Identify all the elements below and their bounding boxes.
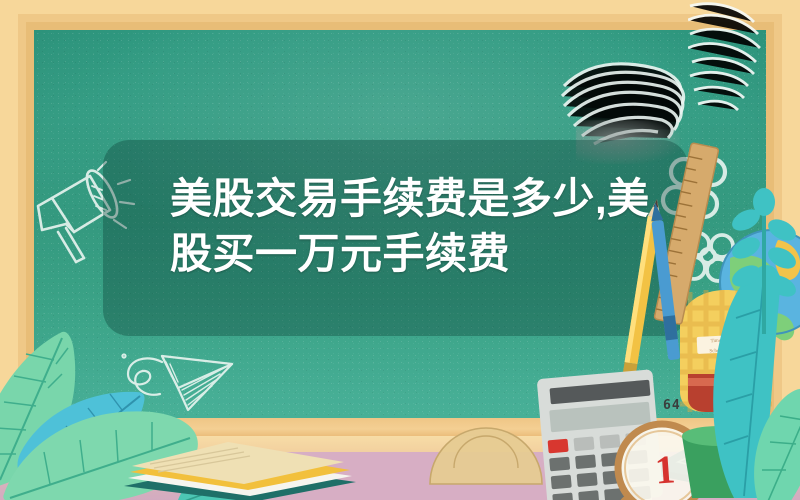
chalkboard-poster: 美股交易手续费是多少,美 股买一万元手续费 [0,0,800,500]
calculator-display: 64 [663,398,681,413]
eraser-scrub-mark-edge [688,0,800,120]
leaf-mint-right [742,380,800,500]
leaf-sprig-right [726,186,800,336]
book-stack-left [120,440,360,500]
magnifier-digit: 1 [653,445,676,493]
